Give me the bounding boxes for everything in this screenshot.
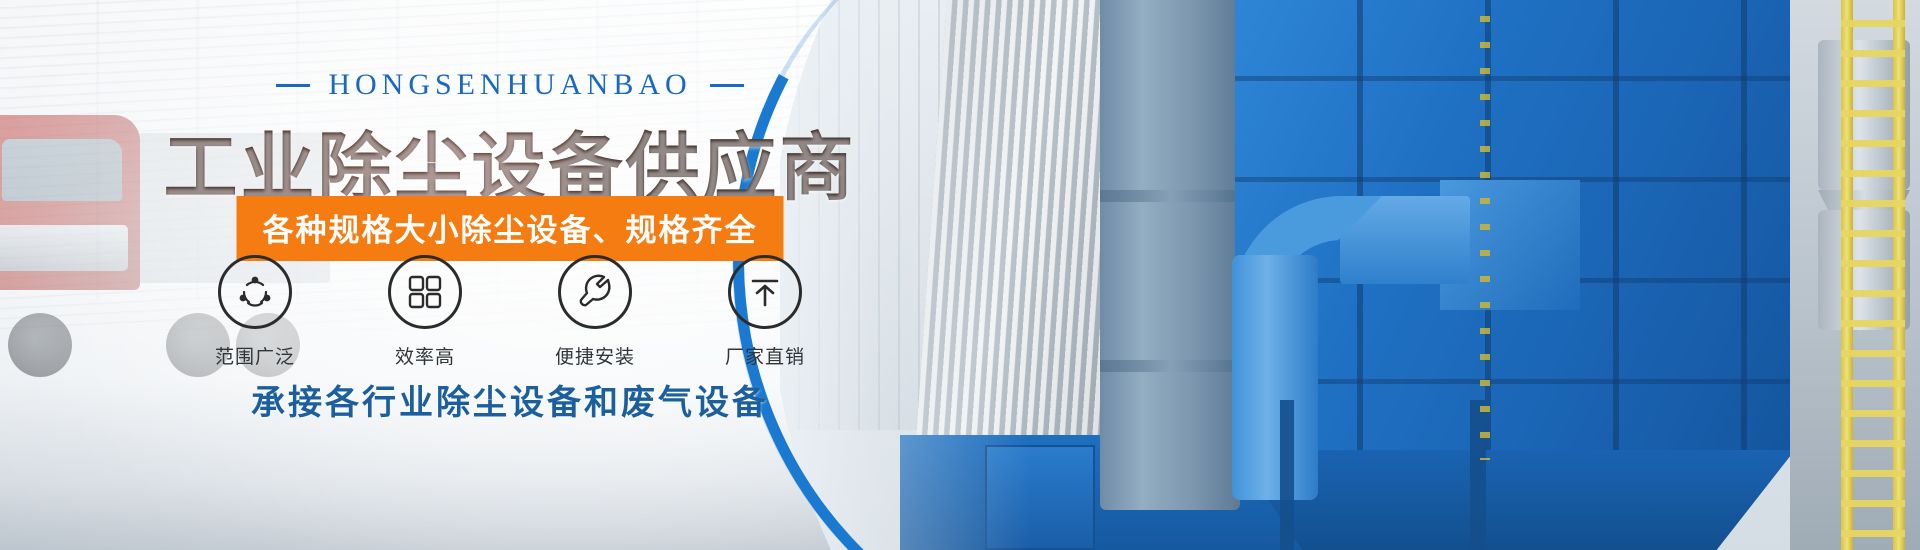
grid-four-squares-icon (406, 273, 444, 311)
share-nodes-icon (235, 272, 275, 312)
feature-label: 厂家直销 (711, 342, 819, 369)
eyebrow-dash-right (710, 84, 744, 87)
feature-icon-circle (558, 255, 632, 329)
feature-item-wide-range[interactable]: 范围广泛 (201, 255, 309, 369)
highlight-bar: 各种规格大小除尘设备、规格齐全 (237, 196, 784, 261)
eyebrow-dash-left (276, 84, 310, 87)
banner-content: HONGSENHUANBAO 工业除尘设备供应商 各种规格大小除尘设备、规格齐全 (0, 0, 1020, 550)
banner-subtitle: 承接各行业除尘设备和废气设备 (0, 375, 1020, 424)
feature-label: 便捷安装 (541, 342, 649, 369)
feature-icon-circle (218, 255, 292, 329)
wrench-icon (575, 272, 615, 312)
feature-icon-circle (728, 255, 802, 329)
feature-item-high-efficiency[interactable]: 效率高 (371, 255, 479, 369)
feature-label: 效率高 (371, 342, 479, 369)
highlight-bar-text: 各种规格大小除尘设备、规格齐全 (263, 213, 758, 248)
feature-label: 范围广泛 (201, 342, 309, 369)
eyebrow-line: HONGSENHUANBAO (0, 68, 1020, 102)
feature-item-factory-direct[interactable]: 厂家直销 (711, 255, 819, 369)
eyebrow-text: HONGSENHUANBAO (328, 68, 691, 102)
hero-banner: HONGSENHUANBAO 工业除尘设备供应商 各种规格大小除尘设备、规格齐全 (0, 0, 1920, 550)
feature-icon-circle (388, 255, 462, 329)
arrow-up-bar-icon (746, 273, 784, 311)
feature-item-easy-install[interactable]: 便捷安装 (541, 255, 649, 369)
feature-list: 范围广泛 效率高 (0, 255, 1020, 369)
